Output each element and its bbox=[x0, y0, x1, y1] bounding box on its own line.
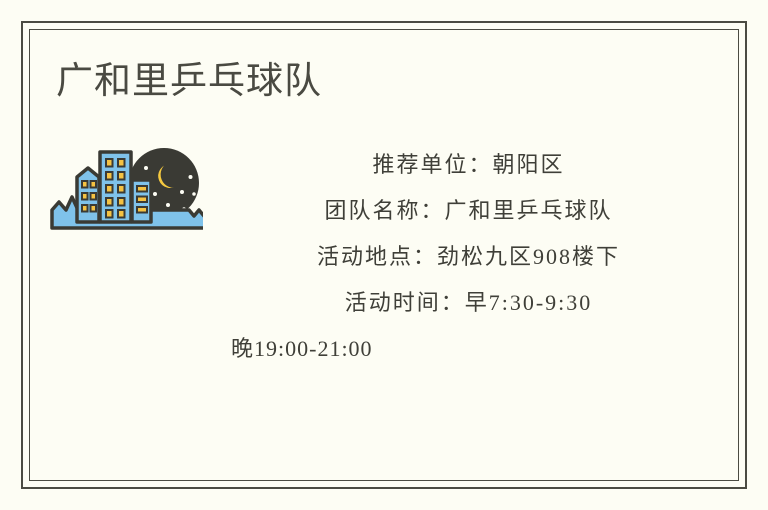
detail-activity-time-morning: 活动时间：早7:30-9:30 bbox=[217, 280, 720, 326]
detail-recommend-unit: 推荐单位：朝阳区 bbox=[217, 142, 720, 188]
team-details: 推荐单位：朝阳区 团队名称：广和里乒乓球队 活动地点：劲松九区908楼下 活动时… bbox=[217, 138, 720, 372]
detail-activity-place: 活动地点：劲松九区908楼下 bbox=[217, 234, 720, 280]
content-area: 推荐单位：朝阳区 团队名称：广和里乒乓球队 活动地点：劲松九区908楼下 活动时… bbox=[48, 138, 720, 372]
page-title: 广和里乒乓球队 bbox=[56, 58, 322, 104]
detail-team-name: 团队名称：广和里乒乓球队 bbox=[217, 188, 720, 234]
night-city-icon bbox=[48, 144, 203, 234]
page-root: 广和里乒乓球队 bbox=[0, 0, 768, 510]
detail-activity-time-evening: 晚19:00-21:00 bbox=[217, 326, 720, 372]
